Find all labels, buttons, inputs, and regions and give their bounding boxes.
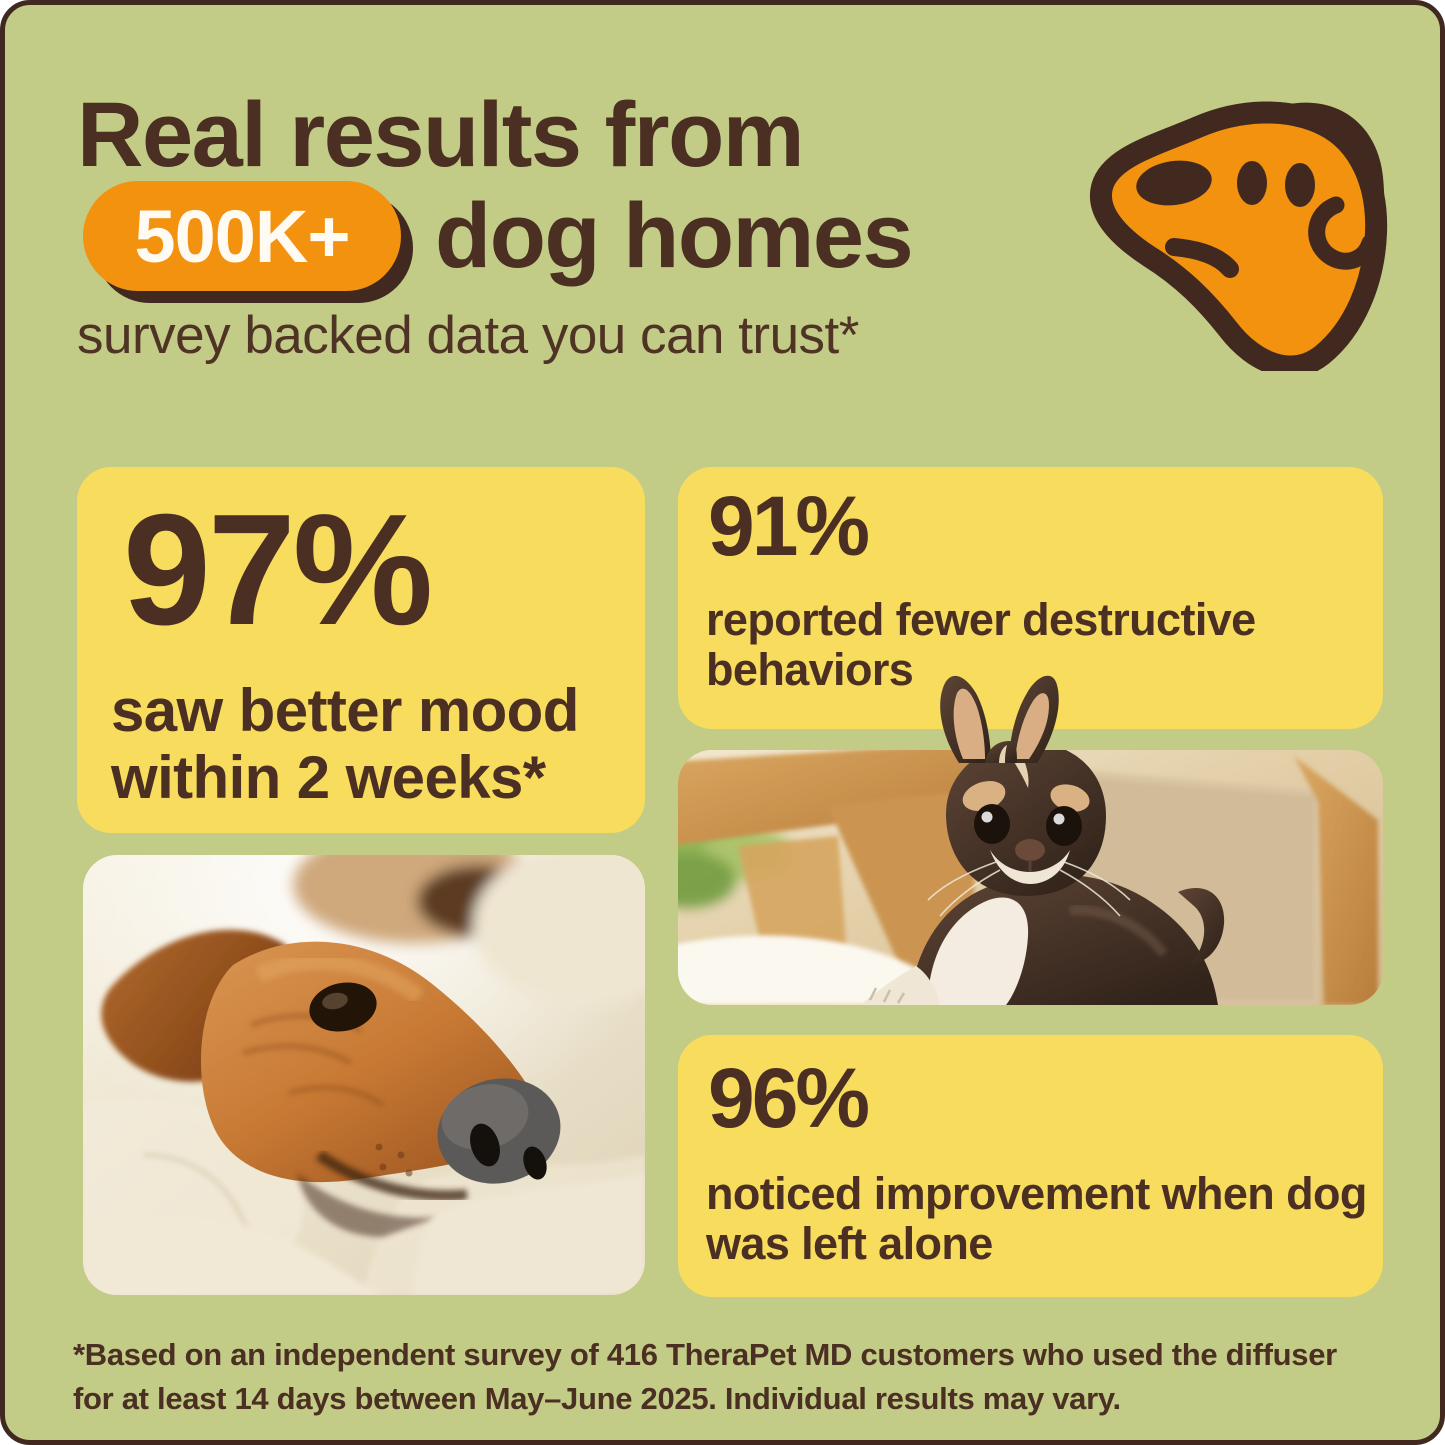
infographic-poster: Real results from dog homes 500K+ survey… xyxy=(0,0,1445,1445)
stat-card-97: 97% saw better mood within 2 weeks* xyxy=(77,467,645,833)
photo-resting-dog xyxy=(83,855,645,1295)
headline-line-2: dog homes xyxy=(435,190,912,282)
footnote-disclaimer: *Based on an independent survey of 416 T… xyxy=(73,1333,1373,1421)
header: Real results from dog homes 500K+ survey… xyxy=(5,5,1445,425)
photo-chihuahua xyxy=(678,750,1383,1005)
subheadline: survey backed data you can trust* xyxy=(77,305,859,366)
stat-card-91: 91% reported fewer destructive behaviors xyxy=(678,467,1383,729)
stat-label-91: reported fewer destructive behaviors xyxy=(706,595,1366,696)
headline-line-1: Real results from xyxy=(77,89,803,181)
stat-label-96: noticed improvement when dog was left al… xyxy=(706,1169,1376,1270)
count-badge: 500K+ xyxy=(83,181,401,291)
count-badge-label: 500K+ xyxy=(83,181,401,291)
stat-value-91: 91% xyxy=(708,487,867,567)
stat-value-97: 97% xyxy=(123,495,430,645)
stat-label-97: saw better mood within 2 weeks* xyxy=(111,677,631,811)
dog-head-icon xyxy=(1078,91,1398,371)
stat-card-96: 96% noticed improvement when dog was lef… xyxy=(678,1035,1383,1297)
stat-value-96: 96% xyxy=(708,1059,867,1139)
